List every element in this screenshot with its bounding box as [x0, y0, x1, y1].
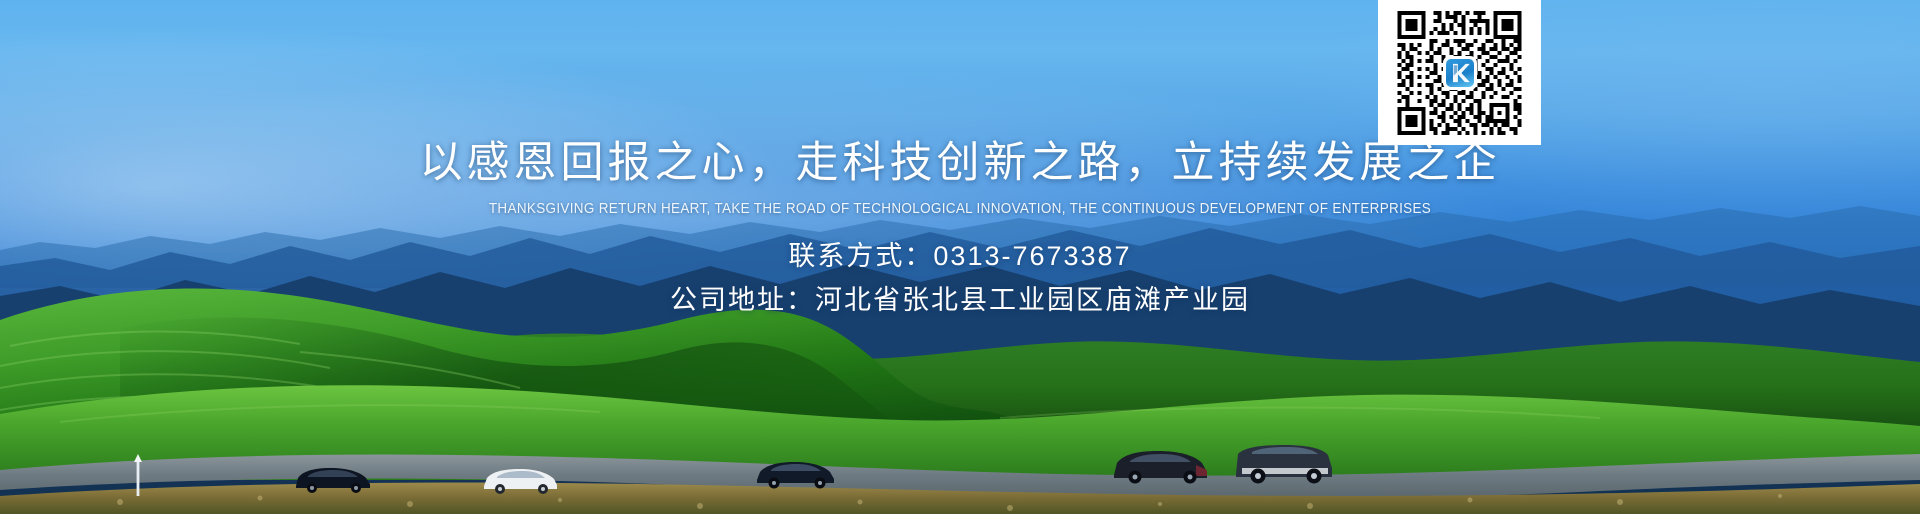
qr-code-modules	[1386, 7, 1533, 139]
road	[0, 440, 1920, 510]
roadside-verge	[0, 462, 1920, 514]
contact-phone: 联系方式：0313-7673387	[0, 237, 1920, 275]
promo-banner: 以感恩回报之心，走科技创新之路，立持续发展之企 THANKSGIVING RET…	[0, 0, 1920, 514]
car-mid-dark-sedan	[752, 455, 840, 489]
headline: 以感恩回报之心，走科技创新之路，立持续发展之企	[0, 137, 1920, 189]
qr-code[interactable]	[1378, 0, 1541, 145]
car-left-sedan	[290, 460, 376, 494]
roadside-marker-post	[132, 452, 144, 498]
car-center-white-sedan	[480, 462, 562, 494]
company-address: 公司地址：河北省张北县工业园区庙滩产业园	[0, 281, 1920, 319]
company-logo-icon	[1443, 56, 1477, 90]
car-far-right-jeep	[1228, 438, 1338, 486]
car-right-suv	[1108, 443, 1213, 485]
subheadline: THANKSGIVING RETURN HEART, TAKE THE ROAD…	[67, 200, 1853, 218]
hills-foreground	[0, 360, 1920, 480]
